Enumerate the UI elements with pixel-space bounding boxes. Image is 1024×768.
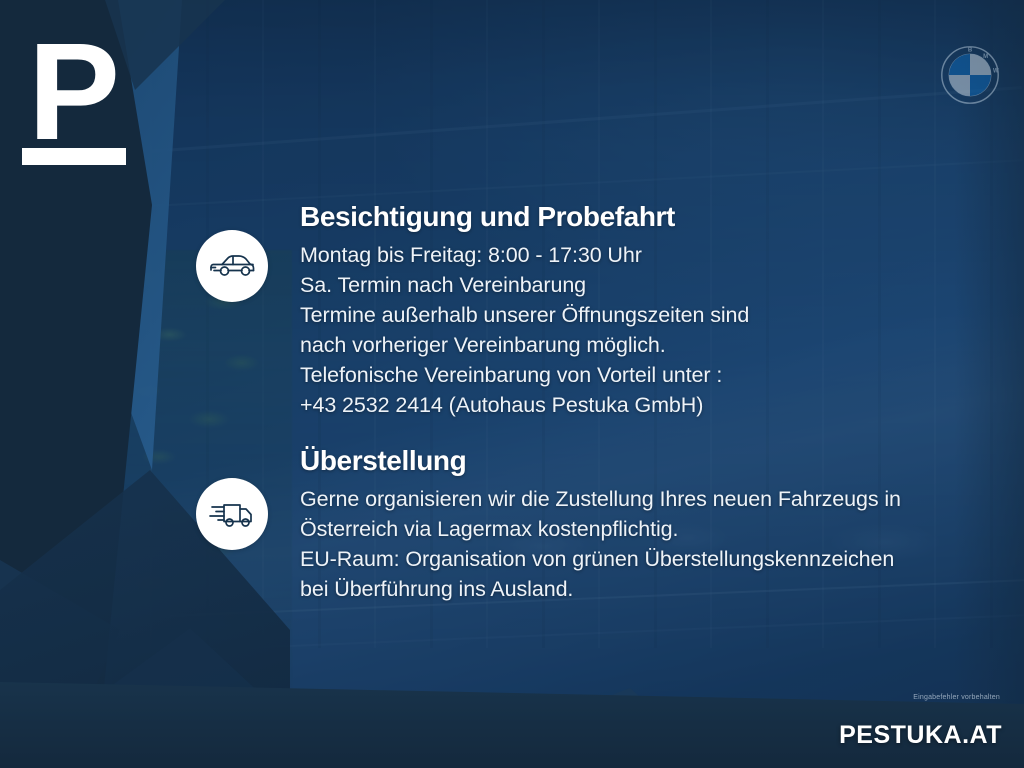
section-line: Gerne organisieren wir die Zustellung Ih… xyxy=(300,484,901,514)
section-line: Termine außerhalb unserer Öffnungszeiten… xyxy=(300,300,749,330)
facet-right-edge xyxy=(954,0,1024,768)
section-ueberstellung: Überstellung Gerne organisieren wir die … xyxy=(300,444,901,604)
bmw-roundel-icon: B M W xyxy=(940,45,1000,105)
delivery-truck-icon xyxy=(196,478,268,550)
section-line: Sa. Termin nach Vereinbarung xyxy=(300,270,749,300)
section-line: EU-Raum: Organisation von grünen Überste… xyxy=(300,544,901,574)
section-line: Telefonische Vereinbarung von Vorteil un… xyxy=(300,360,749,390)
section-line: Montag bis Freitag: 8:00 - 17:30 Uhr xyxy=(300,240,749,270)
svg-text:W: W xyxy=(993,69,999,75)
section-title: Besichtigung und Probefahrt xyxy=(300,200,749,234)
section-line: nach vorheriger Vereinbarung möglich. xyxy=(300,330,749,360)
phone-number-line: +43 2532 2414 (Autohaus Pestuka GmbH) xyxy=(300,390,749,420)
section-line: Österreich via Lagermax kostenpflichtig. xyxy=(300,514,901,544)
car-side-icon xyxy=(196,230,268,302)
svg-text:B: B xyxy=(968,48,973,54)
website-brand: PESTUKA.AT xyxy=(839,721,1002,750)
disclaimer-text: Eingabefehler vorbehalten xyxy=(913,694,1000,701)
section-line: bei Überführung ins Ausland. xyxy=(300,574,901,604)
promo-banner: P B M W Besic xyxy=(0,0,1024,768)
svg-text:M: M xyxy=(983,54,988,60)
section-title: Überstellung xyxy=(300,444,901,478)
pestuka-logo-underline-bar xyxy=(22,148,126,165)
section-besichtigung: Besichtigung und Probefahrt Montag bis F… xyxy=(300,200,749,420)
